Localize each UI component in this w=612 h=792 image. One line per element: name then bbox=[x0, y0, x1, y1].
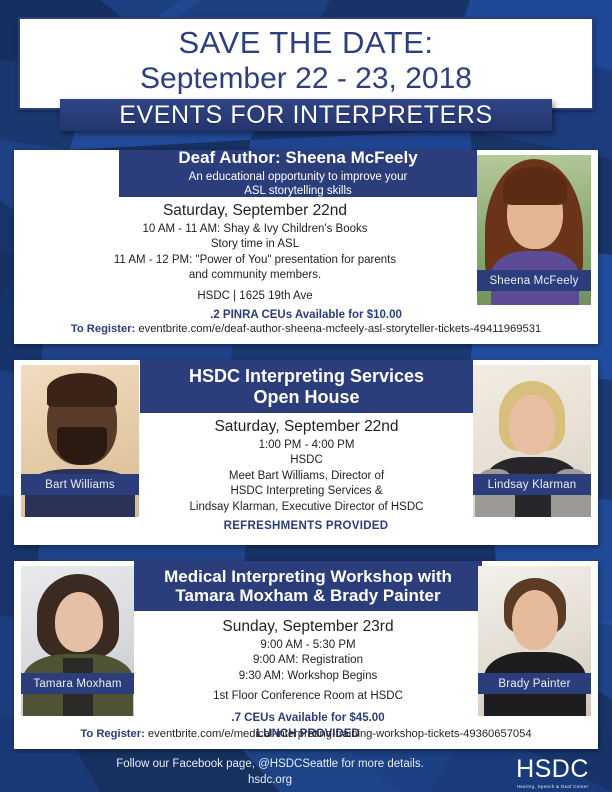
event3-detail-3: 9:30 AM: Workshop Begins bbox=[134, 669, 482, 684]
event1-location: HSDC | 1625 19th Ave bbox=[30, 289, 480, 304]
event-card-deaf-author: Deaf Author: Sheena McFeely An education… bbox=[14, 150, 598, 344]
event3-detail-2: 9:00 AM: Registration bbox=[134, 653, 482, 668]
event3-date: Sunday, September 23rd bbox=[134, 618, 482, 637]
event2-title-line1: HSDC Interpreting Services bbox=[140, 366, 473, 387]
event1-subtitle-line2: ASL storytelling skills bbox=[119, 184, 477, 198]
event3-title-bar: Medical Interpreting Workshop with Tamar… bbox=[134, 561, 482, 611]
event2-note: REFRESHMENTS PROVIDED bbox=[14, 520, 598, 532]
event1-date: Saturday, September 22nd bbox=[30, 202, 480, 221]
photo-tamara-moxham: Tamara Moxham bbox=[21, 566, 134, 716]
event1-register-label: To Register: bbox=[71, 323, 135, 335]
event3-title-line2: Tamara Moxham & Brady Painter bbox=[134, 586, 482, 605]
event-dates: September 22 - 23, 2018 bbox=[20, 62, 592, 96]
hsdc-logo-tagline: Hearing, Speech & Deaf Center bbox=[505, 784, 600, 789]
event2-date: Saturday, September 22nd bbox=[140, 418, 473, 437]
event3-register-url[interactable]: eventbrite.com/e/medical-interpreting-tr… bbox=[148, 728, 532, 740]
events-for-interpreters-banner: EVENTS FOR INTERPRETERS bbox=[60, 99, 552, 131]
banner-label: EVENTS FOR INTERPRETERS bbox=[119, 101, 493, 130]
save-the-date-title: SAVE THE DATE: bbox=[20, 25, 592, 61]
event3-register-line[interactable]: To Register: eventbrite.com/e/medical-in… bbox=[14, 728, 598, 740]
event1-details: Saturday, September 22nd 10 AM - 11 AM: … bbox=[30, 202, 480, 304]
event1-title: Deaf Author: Sheena McFeely bbox=[119, 148, 477, 167]
photo-sheena-mcfeely: Sheena McFeely bbox=[477, 155, 591, 305]
event2-detail-5: Lindsay Klarman, Executive Director of H… bbox=[140, 500, 473, 515]
footer-text: Follow our Facebook page, @HSDCSeattle f… bbox=[70, 757, 470, 788]
event1-ceu: .2 PINRA CEUs Available for $10.00 bbox=[14, 307, 598, 323]
footer-line-1: Follow our Facebook page, @HSDCSeattle f… bbox=[70, 757, 470, 773]
photo-lindsay-klarman: Lindsay Klarman bbox=[473, 365, 591, 517]
hsdc-logo-wordmark: HSDC bbox=[505, 757, 600, 782]
event1-title-bar: Deaf Author: Sheena McFeely An education… bbox=[119, 150, 477, 197]
event-card-medical-workshop: Medical Interpreting Workshop with Tamar… bbox=[14, 561, 598, 749]
photo-caption-tamara-moxham: Tamara Moxham bbox=[21, 673, 134, 694]
event2-details: Saturday, September 22nd 1:00 PM - 4:00 … bbox=[140, 418, 473, 515]
event2-detail-3: Meet Bart Williams, Director of bbox=[140, 469, 473, 484]
event3-title-line1: Medical Interpreting Workshop with bbox=[134, 567, 482, 586]
photo-caption-brady-painter: Brady Painter bbox=[478, 673, 591, 694]
photo-caption-sheena-mcfeely: Sheena McFeely bbox=[477, 270, 591, 291]
event2-detail-4: HSDC Interpreting Services & bbox=[140, 484, 473, 499]
event2-note-text: REFRESHMENTS PROVIDED bbox=[224, 520, 389, 532]
event2-title-bar: HSDC Interpreting Services Open House bbox=[140, 360, 473, 413]
event1-detail-3: 11 AM - 12 PM: "Power of You" presentati… bbox=[30, 253, 480, 268]
event2-detail-1: 1:00 PM - 4:00 PM bbox=[140, 438, 473, 453]
event1-detail-1: 10 AM - 11 AM: Shay & Ivy Children's Boo… bbox=[30, 222, 480, 237]
event3-register-label: To Register: bbox=[80, 728, 144, 740]
photo-caption-lindsay-klarman: Lindsay Klarman bbox=[473, 474, 591, 495]
event1-detail-2: Story time in ASL bbox=[30, 237, 480, 252]
event1-register-line[interactable]: To Register: eventbrite.com/e/deaf-autho… bbox=[14, 323, 598, 335]
event-card-open-house: HSDC Interpreting Services Open House Sa… bbox=[14, 360, 598, 545]
photo-brady-painter: Brady Painter bbox=[478, 566, 591, 716]
photo-bart-williams: Bart Williams bbox=[21, 365, 139, 517]
event2-detail-2: HSDC bbox=[140, 453, 473, 468]
hsdc-logo: HSDC Hearing, Speech & Deaf Center bbox=[505, 757, 600, 789]
save-the-date-box: SAVE THE DATE: September 22 - 23, 2018 bbox=[18, 17, 594, 110]
event3-details: Sunday, September 23rd 9:00 AM - 5:30 PM… bbox=[134, 618, 482, 742]
photo-caption-bart-williams: Bart Williams bbox=[21, 474, 139, 495]
event3-detail-1: 9:00 AM - 5:30 PM bbox=[134, 638, 482, 653]
event2-title-line2: Open House bbox=[140, 387, 473, 408]
event1-subtitle-line1: An educational opportunity to improve yo… bbox=[119, 170, 477, 184]
event1-ceu-text: .2 PINRA CEUs Available for $10.00 bbox=[210, 309, 402, 321]
event3-location: 1st Floor Conference Room at HSDC bbox=[134, 689, 482, 704]
event1-detail-4: and community members. bbox=[30, 268, 480, 283]
event1-register-url[interactable]: eventbrite.com/e/deaf-author-sheena-mcfe… bbox=[138, 323, 541, 335]
footer-line-2[interactable]: hsdc.org bbox=[70, 773, 470, 789]
event3-ceu: .7 CEUs Available for $45.00 bbox=[134, 710, 482, 726]
